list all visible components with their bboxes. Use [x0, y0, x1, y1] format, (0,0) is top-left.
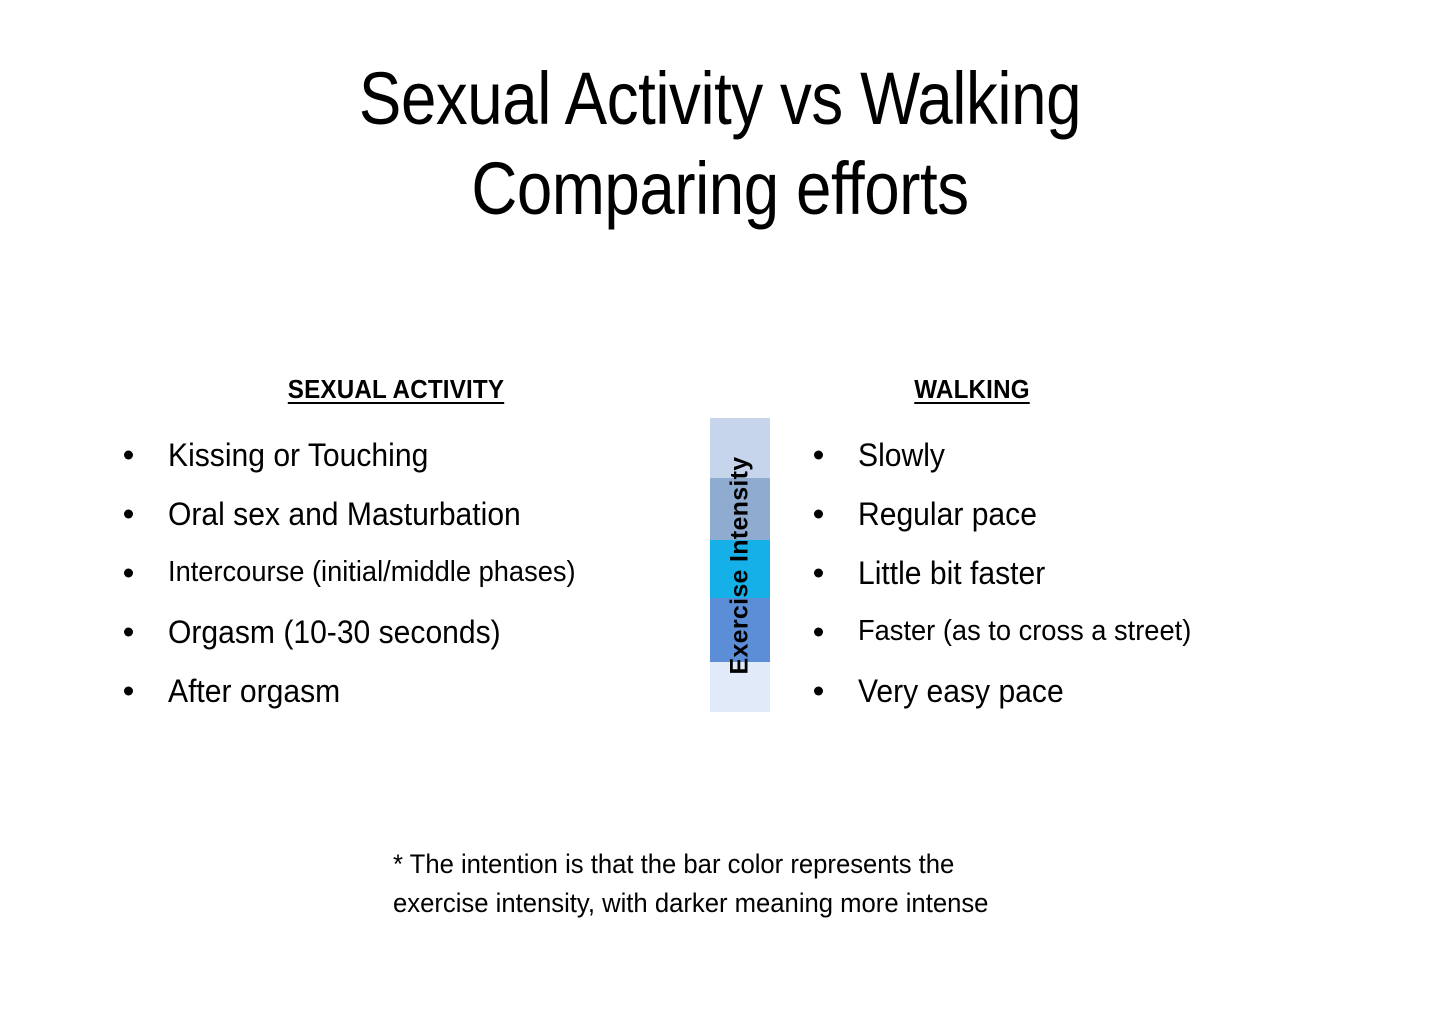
- bullet-icon: [124, 450, 133, 459]
- footnote-line-2: exercise intensity, with darker meaning …: [393, 884, 1058, 923]
- intensity-segment-5: [710, 662, 770, 712]
- list-item-label: Slowly: [858, 439, 945, 471]
- exercise-intensity-bar: [710, 418, 770, 712]
- list-item-label: After orgasm: [168, 675, 340, 707]
- list-item: Intercourse (initial/middle phases): [110, 543, 700, 602]
- list-item: Oral sex and Masturbation: [110, 484, 700, 543]
- page-title: Sexual Activity vs Walking Comparing eff…: [0, 62, 1440, 226]
- column-walking: WALKING Slowly Regular pace Little bit f…: [800, 374, 1340, 720]
- list-item-label: Little bit faster: [858, 557, 1045, 589]
- list-item-label: Intercourse (initial/middle phases): [168, 558, 576, 587]
- intensity-segment-4: [710, 598, 770, 662]
- page-title-line-1: Sexual Activity vs Walking: [101, 62, 1339, 136]
- footnote-line-1: * The intention is that the bar color re…: [393, 845, 1058, 884]
- bullet-icon: [814, 509, 823, 518]
- intensity-segment-1: [710, 418, 770, 478]
- list-item-label: Faster (as to cross a street): [858, 617, 1191, 646]
- intensity-segment-2: [710, 478, 770, 540]
- bullet-icon: [124, 509, 133, 518]
- list-item: Regular pace: [800, 484, 1340, 543]
- bullet-list-sexual-activity: Kissing or Touching Oral sex and Masturb…: [110, 425, 700, 720]
- bullet-icon: [124, 686, 133, 695]
- bullet-icon: [814, 568, 823, 577]
- list-item-label: Very easy pace: [858, 675, 1064, 707]
- list-item-label: Regular pace: [858, 498, 1037, 530]
- list-item: Kissing or Touching: [110, 425, 700, 484]
- bullet-list-walking: Slowly Regular pace Little bit faster Fa…: [800, 425, 1340, 720]
- list-item: Faster (as to cross a street): [800, 602, 1340, 661]
- bullet-icon: [124, 568, 133, 577]
- list-item: Slowly: [800, 425, 1340, 484]
- list-item: After orgasm: [110, 661, 700, 720]
- bullet-icon: [814, 627, 823, 636]
- list-item-label: Kissing or Touching: [168, 439, 428, 471]
- bullet-icon: [814, 450, 823, 459]
- footnote: * The intention is that the bar color re…: [393, 845, 1093, 923]
- page-title-line-2: Comparing efforts: [101, 152, 1339, 226]
- bullet-icon: [814, 686, 823, 695]
- bullet-icon: [124, 627, 133, 636]
- column-heading-walking: WALKING: [833, 374, 1112, 405]
- list-item: Very easy pace: [800, 661, 1340, 720]
- list-item: Little bit faster: [800, 543, 1340, 602]
- column-heading-sexual-activity: SEXUAL ACTIVITY: [191, 374, 600, 405]
- list-item: Orgasm (10-30 seconds): [110, 602, 700, 661]
- list-item-label: Orgasm (10-30 seconds): [168, 616, 501, 648]
- intensity-segment-3: [710, 540, 770, 598]
- list-item-label: Oral sex and Masturbation: [168, 498, 521, 530]
- column-sexual-activity: SEXUAL ACTIVITY Kissing or Touching Oral…: [110, 374, 700, 720]
